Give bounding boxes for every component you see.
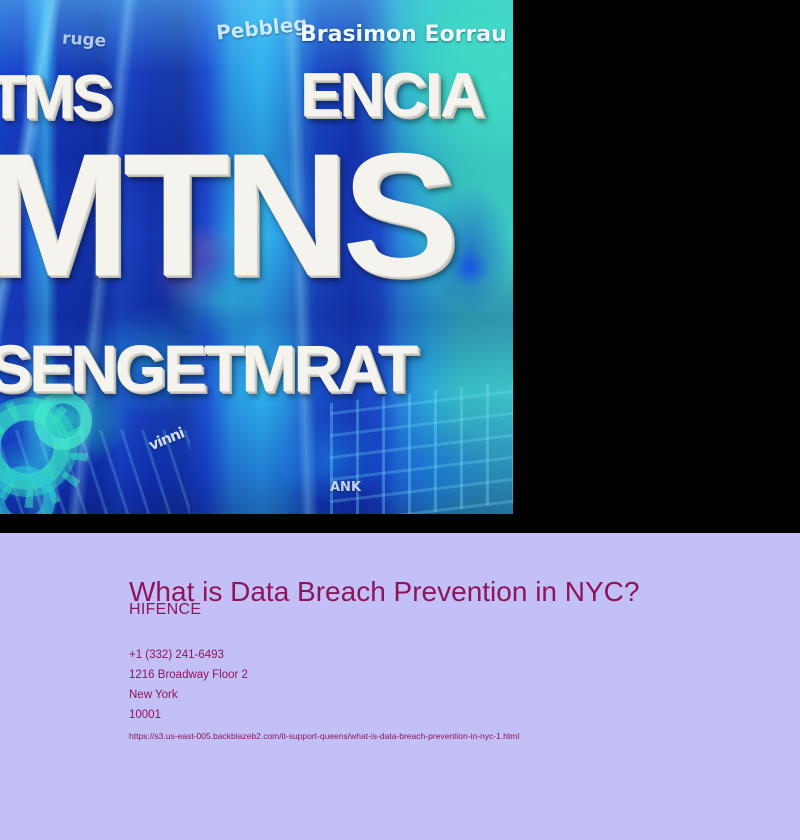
source-url-link[interactable]: https://s3.us-east-005.backblazeb2.com/i…	[129, 731, 519, 741]
hero-letters-headline: MTNS	[0, 128, 452, 303]
contact-phone[interactable]: +1 (332) 241-6493	[129, 649, 224, 661]
contact-street: 1216 Broadway Floor 2	[129, 669, 248, 681]
letterbox-right	[513, 0, 800, 514]
hero-handwritten-top: Brasimon Eorrau	[300, 22, 507, 47]
page-title: What is Data Breach Prevention in NYC?	[129, 576, 639, 608]
hero-image: ruge Pebbleg Brasimon Eorrau TMS ENCIA M…	[0, 0, 513, 514]
contact-city: New York	[129, 689, 178, 701]
content-panel: What is Data Breach Prevention in NYC? H…	[0, 533, 800, 840]
brand-name: HIFENCE	[129, 601, 201, 619]
letterbox-bottom	[0, 514, 800, 533]
contact-zip: 10001	[129, 709, 161, 721]
hero-doodle-bottom-right: ANK	[330, 480, 361, 495]
hero-letters-row3: SENGETMRAT	[0, 330, 415, 406]
gear-third-icon	[0, 466, 56, 514]
hero-doodle-left: ruge	[61, 28, 106, 51]
